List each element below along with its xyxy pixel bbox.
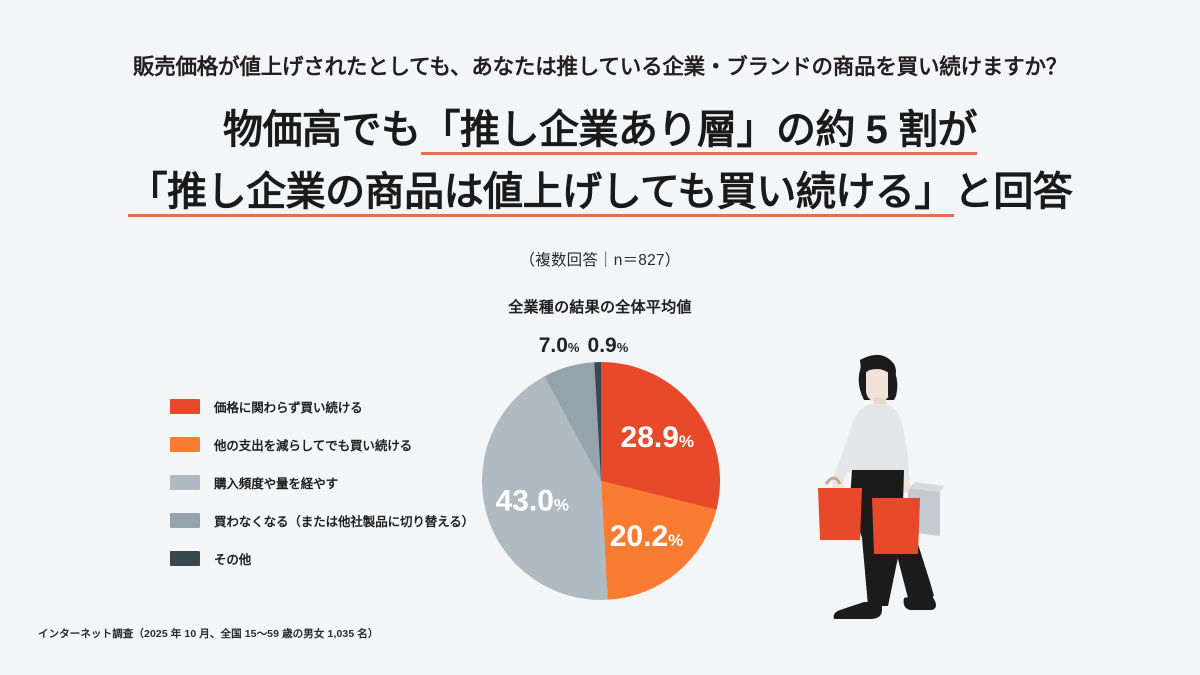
pie-value-label-3: 7.0% (539, 334, 580, 357)
headline-line-2: 「推し企業の商品は値上げしても買い続ける」と回答 (0, 166, 1200, 218)
legend-swatch-icon-2 (170, 475, 200, 490)
chart-caption: 全業種の結果の全体平均値 (0, 296, 1200, 317)
pie-value-label-4: 0.9% (588, 334, 629, 357)
legend-item-4[interactable]: その他 (170, 548, 470, 569)
legend-item-3[interactable]: 買わなくなる（または他社製品に切り替える） (170, 510, 470, 531)
sample-size-note: （複数回答｜n＝827） (0, 248, 1200, 270)
chart-legend: 価格に関わらず買い続ける 他の支出を減らしてでも買い続ける 購入頻度や量を経やす… (170, 396, 470, 586)
survey-question: 販売価格が値上げされたとしても、あなたは推している企業・ブランドの商品を買い続け… (0, 50, 1200, 81)
headline-line-1: 物価高でも「推し企業あり層」の約 5 割が (0, 104, 1200, 156)
legend-label-0: 価格に関わらず買い続ける (214, 397, 363, 416)
headline-line-1-plain: 物価高でも (223, 108, 421, 152)
headline-line-1-underlined: 「推し企業あり層」の約 5 割が (421, 108, 977, 155)
legend-label-2: 購入頻度や量を経やす (214, 473, 338, 492)
legend-item-1[interactable]: 他の支出を減らしてでも買い続ける (170, 434, 470, 455)
red-bag-2 (872, 498, 920, 554)
headline: 物価高でも「推し企業あり層」の約 5 割が 「推し企業の商品は値上げしても買い続… (0, 104, 1200, 218)
near-shoe (834, 602, 882, 619)
pie-slices (482, 362, 720, 600)
illustration-svg (790, 340, 1010, 630)
legend-swatch-icon-3 (170, 513, 200, 528)
headline-line-2-plain: と回答 (954, 170, 1073, 214)
legend-label-4: その他 (214, 549, 251, 568)
legend-swatch-icon-1 (170, 437, 200, 452)
survey-footnote: インターネット調査（2025 年 10 月、全国 15〜59 歳の男女 1,03… (38, 626, 379, 641)
red-bag-1 (818, 488, 862, 540)
legend-label-1: 他の支出を減らしてでも買い続ける (214, 435, 412, 454)
legend-item-0[interactable]: 価格に関わらず買い続ける (170, 396, 470, 417)
pie-chart: 28.9%20.2%43.0%7.0%0.9% (470, 330, 740, 615)
legend-label-3: 買わなくなる（または他社製品に切り替える） (214, 511, 474, 530)
legend-swatch-icon-4 (170, 551, 200, 566)
woman-with-shopping-bags-illustration (790, 340, 1010, 635)
pie-chart-svg: 28.9%20.2%43.0%7.0%0.9% (470, 330, 740, 615)
headline-line-2-underlined: 「推し企業の商品は値上げしても買い続ける」 (128, 170, 954, 217)
legend-item-2[interactable]: 購入頻度や量を経やす (170, 472, 470, 493)
legend-swatch-icon-0 (170, 399, 200, 414)
